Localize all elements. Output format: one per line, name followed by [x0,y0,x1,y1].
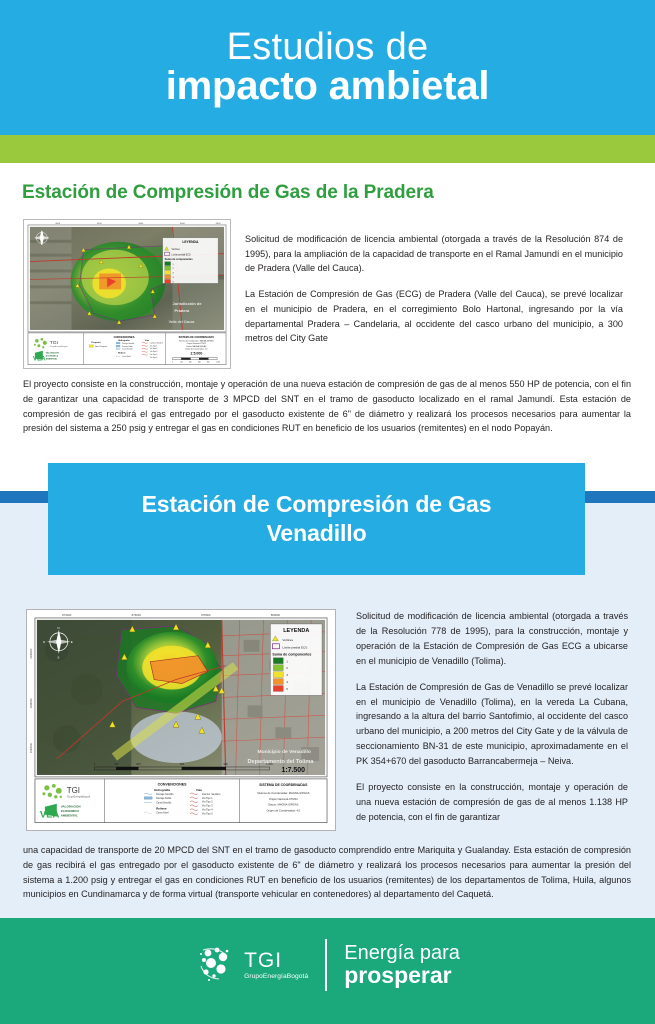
svg-text:S: S [57,656,59,660]
svg-text:Vía Tipo 4: Vía Tipo 4 [202,809,213,812]
svg-text:1:5.000: 1:5.000 [190,352,202,356]
map-venadillo-graphic: N S E O LEYENDA Vértices Límite predial … [27,610,335,831]
svg-text:Límite predial ECG: Límite predial ECG [282,645,308,649]
svg-text:4600: 4600 [180,223,186,225]
svg-text:VEA: VEA [33,356,46,363]
section-one-body: Solicitud de modificación de licencia am… [245,232,623,346]
section-one-paragraph-1: Solicitud de modificación de licencia am… [245,232,623,276]
svg-text:Vía Tipo 2: Vía Tipo 2 [202,801,213,804]
map-pradera[interactable]: LEYENDA Vértices Límite predial ECG Suma… [23,219,231,369]
tgi-molecule-icon [195,944,237,986]
section-two-paragraph-1: Solicitud de modificación de licencia am… [356,609,628,669]
svg-text:Vía Tipo 3: Vía Tipo 3 [150,351,158,353]
svg-text:4200: 4200 [97,223,103,225]
section-one-paragraph-2: La Estación de Compresión de Gas (ECG) d… [245,287,623,346]
svg-text:GrupoEnergíaBogotá: GrupoEnergíaBogotá [50,345,69,348]
svg-text:Departamento del Tolima: Departamento del Tolima [248,759,315,765]
svg-text:E: E [71,640,73,644]
footer-slogan-line-1: Energía para [344,943,460,963]
section-two-paragraph-3: El proyecto consiste en la construcción,… [356,780,628,825]
footer-slogan: Energía para prosperar [344,943,460,988]
svg-text:VEA: VEA [40,809,60,820]
svg-text:SISTEMA DE COORDENADAS: SISTEMA DE COORDENADAS [179,336,215,339]
svg-text:Sistema de Coordenadas: MAGNA-: Sistema de Coordenadas: MAGNA-SIRGAS [257,791,310,795]
map-pradera-graphic: LEYENDA Vértices Límite predial ECG Suma… [24,220,230,369]
svg-text:Jurisdicción de: Jurisdicción de [173,301,203,306]
svg-text:AMBIENTAL: AMBIENTAL [61,814,78,818]
end-paragraph: una capacidad de transporte de 20 MPCD d… [23,843,631,902]
tgi-wordmark: TGI [244,950,308,971]
svg-text:878000: 878000 [201,613,211,617]
svg-text:900: 900 [207,362,210,364]
svg-text:Hidrografía: Hidrografía [154,788,170,792]
svg-text:Límite predial ECG: Límite predial ECG [172,253,191,256]
svg-text:Pradera: Pradera [175,308,191,313]
svg-text:N: N [57,626,59,630]
page-footer: TGI GrupoEnergíaBogotá Energía para pros… [0,918,655,1024]
svg-text:Vía Tipo 4: Vía Tipo 4 [150,354,158,356]
svg-text:TGI: TGI [67,786,80,795]
banner-line-1: Estación de Compresión de Gas [142,491,492,517]
footer-divider [325,939,327,991]
svg-text:LEYENDA: LEYENDA [182,240,199,244]
svg-text:300: 300 [189,362,192,364]
svg-text:TGI: TGI [50,340,58,346]
svg-text:Vía Tipo 2: Vía Tipo 2 [150,348,158,350]
svg-text:150: 150 [180,362,183,364]
svg-text:Drenaje Doble: Drenaje Doble [122,346,133,348]
svg-text:150: 150 [114,762,119,766]
tgi-logo: TGI GrupoEnergíaBogotá [195,944,308,986]
banner-line-2: Venadillo [266,520,366,546]
svg-text:Curva Nivel: Curva Nivel [122,356,131,358]
svg-text:1.200: 1.200 [216,362,220,364]
svg-text:Vías: Vías [196,788,202,792]
svg-text:Origen Nacional-CTM12: Origen Nacional-CTM12 [269,797,298,801]
svg-text:Datum: MAGNA-SIRGAS: Datum: MAGNA-SIRGAS [186,345,207,348]
svg-text:Canal Sencillo: Canal Sencillo [156,802,172,805]
svg-text:Proyecto: Proyecto [91,341,101,344]
venadillo-banner-text: Estación de Compresión de Gas Venadillo [142,490,492,549]
svg-text:Vía Tipo 5: Vía Tipo 5 [150,357,158,359]
svg-text:CONVENCIONES: CONVENCIONES [158,782,188,786]
svg-text:VALORACION: VALORACION [46,352,60,355]
svg-text:VALORACION: VALORACION [61,805,81,809]
svg-text:300: 300 [136,762,141,766]
middle-paragraph: El proyecto consiste en la construcción,… [23,377,631,436]
svg-text:Valle del Cauca: Valle del Cauca [169,320,195,324]
page-header: Estudios de impacto ambietal [0,0,655,135]
svg-text:600: 600 [180,762,185,766]
map-venadillo[interactable]: N S E O LEYENDA Vértices Límite predial … [26,609,336,831]
venadillo-banner: Estación de Compresión de Gas Venadillo [48,463,585,575]
tgi-subtitle: GrupoEnergíaBogotá [244,974,308,981]
footer-slogan-line-2: prosperar [344,964,460,987]
svg-text:LEYENDA: LEYENDA [283,628,309,634]
svg-text:Relieve: Relieve [118,353,126,355]
header-title-light: Estudios de [227,28,429,68]
svg-text:1032000: 1032000 [29,742,33,753]
header-title-bold: impacto ambietal [166,65,490,107]
svg-text:GrupoEnergíaBogotá: GrupoEnergíaBogotá [67,795,91,798]
svg-text:Vía Tipo 5: Vía Tipo 5 [202,813,213,816]
svg-text:Datum: MAGNA-SIRGAS: Datum: MAGNA-SIRGAS [268,803,298,807]
svg-text:Vía Tipo 3: Vía Tipo 3 [202,805,213,808]
svg-text:Municipio de Venadillo: Municipio de Venadillo [257,749,310,755]
svg-text:Vía Tipo 1: Vía Tipo 1 [202,797,213,800]
svg-text:Curva Nivel: Curva Nivel [156,812,169,815]
svg-text:Área Proyecto: Área Proyecto [95,345,107,348]
svg-text:ECONOMICA: ECONOMICA [61,809,80,813]
svg-text:AMBIENTAL: AMBIENTAL [46,358,58,361]
svg-text:Drenaje Doble: Drenaje Doble [156,797,172,800]
svg-text:600: 600 [198,362,201,364]
svg-text:Origen de Coordenadas: 4.0: Origen de Coordenadas: 4.0 [185,349,207,351]
svg-text:Camino, Sendero: Camino, Sendero [150,342,163,344]
svg-text:1034000: 1034000 [29,698,33,709]
svg-text:1036000: 1036000 [29,648,33,659]
section-two-body: Solicitud de modificación de licencia am… [356,609,628,825]
svg-text:Suma de componentes: Suma de componentes [272,653,311,657]
svg-text:0: 0 [172,362,173,364]
svg-text:Vértices: Vértices [282,638,293,642]
svg-text:Suma de componentes: Suma de componentes [165,257,194,261]
svg-text:Drenaje Sencillo: Drenaje Sencillo [156,793,174,796]
svg-text:Canal Sencillo: Canal Sencillo [122,349,133,351]
section-one-title: Estación de Compresión de Gas de la Prad… [22,182,622,204]
svg-text:Vértices: Vértices [172,248,181,251]
svg-text:880000: 880000 [271,613,281,617]
section-two-paragraph-2: La Estación de Compresión de Gas de Vena… [356,680,628,769]
svg-text:874000: 874000 [62,613,72,617]
svg-text:4000: 4000 [55,223,61,225]
svg-text:1:7.500: 1:7.500 [281,767,305,774]
svg-text:Relieve: Relieve [156,807,167,811]
svg-text:Drenaje Sencillo: Drenaje Sencillo [122,343,134,345]
svg-text:900: 900 [224,762,229,766]
svg-text:ECONOMICA: ECONOMICA [46,355,59,358]
poster-page: Estudios de impacto ambietal Estación de… [0,0,655,1024]
svg-text:CONVENCIONES: CONVENCIONES [114,335,135,339]
svg-text:876000: 876000 [132,613,142,617]
svg-text:Origen de Coordenadas: 4.0: Origen de Coordenadas: 4.0 [266,809,300,813]
header-green-rule [0,135,655,163]
svg-text:Hidrografía: Hidrografía [118,340,130,342]
svg-text:SISTEMA DE COORDENADAS: SISTEMA DE COORDENADAS [259,783,308,787]
svg-text:Origen Nacional-CTM12: Origen Nacional-CTM12 [187,343,206,345]
svg-text:Sistema de Coordenadas: MAGNA-: Sistema de Coordenadas: MAGNA-SIRGAS [179,339,214,342]
svg-text:Vía Tipo 1: Vía Tipo 1 [150,345,158,347]
svg-text:Camino, Sendero: Camino, Sendero [202,793,221,796]
svg-text:4400: 4400 [138,223,144,225]
svg-text:1.200: 1.200 [266,762,273,766]
svg-text:4800: 4800 [216,223,222,225]
